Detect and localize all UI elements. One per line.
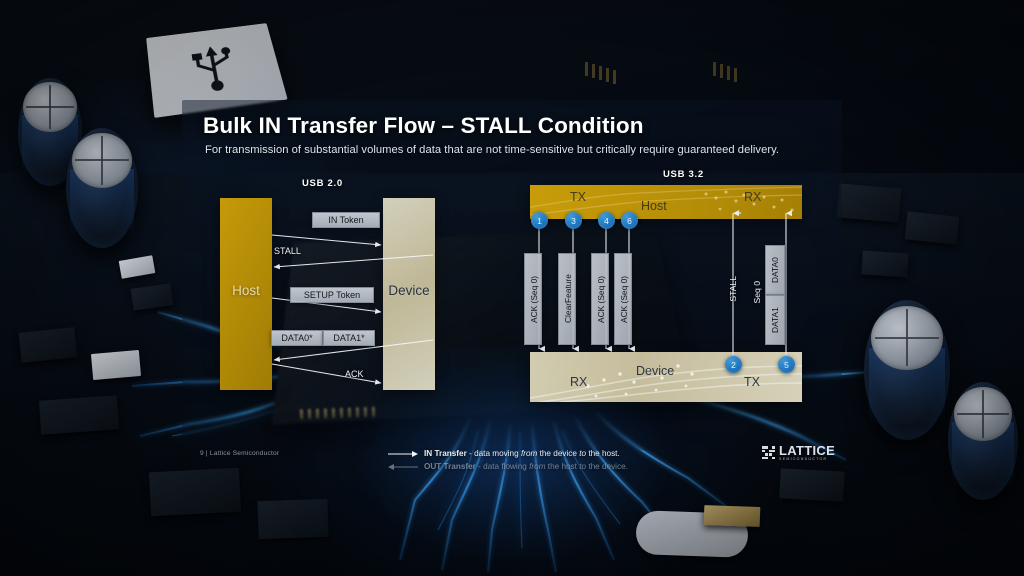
usb3-step-4: 4 — [598, 212, 615, 229]
usb2-packet-data1: DATA1* — [323, 330, 375, 346]
legend-b: the device — [537, 449, 579, 458]
usb3-label-text: ClearFeature — [559, 254, 577, 344]
usb3-step-3: 3 — [565, 212, 582, 229]
usb2-host-label: Host — [220, 283, 272, 298]
usb3-label-ack-seq0-1: ACK (Seq 0) — [524, 253, 542, 345]
usb3-label-text: ACK (Seq 0) — [525, 254, 543, 344]
lattice-sub: SEMICONDUCTOR — [779, 458, 835, 462]
legend-c: the host. — [586, 449, 620, 458]
usb2-packet-in-token: IN Token — [312, 212, 380, 228]
usb3-device-label: Device — [636, 364, 674, 378]
usb3-caption: USB 3.2 — [663, 169, 704, 180]
legend-a: data flowing — [483, 462, 529, 471]
usb2-caption: USB 2.0 — [302, 178, 343, 189]
page-subtitle: For transmission of substantial volumes … — [205, 144, 779, 156]
legend-row-out: OUT Transfer - data flowing from the hos… — [388, 461, 628, 472]
usb3-device-rx-label: RX — [570, 375, 587, 389]
legend-b: the host — [546, 462, 580, 471]
slide-footer: 9 | Lattice Semiconductor — [200, 450, 279, 457]
usb3-label-ack-seq0-3: ACK (Seq 0) — [614, 253, 632, 345]
legend-in-name: IN Transfer — [424, 449, 467, 458]
legend-sep: - — [467, 449, 474, 458]
legend: IN Transfer - data moving from the devic… — [388, 448, 628, 474]
slide-content: Bulk IN Transfer Flow – STALL Condition … — [0, 0, 1024, 576]
usb2-packet-data0: DATA0* — [271, 330, 323, 346]
usb3-label-ack-seq0-2: ACK (Seq 0) — [591, 253, 609, 345]
legend-arrow-out-icon — [388, 463, 418, 471]
usb3-label-data0: DATA0 — [765, 245, 785, 295]
usb3-label-text: DATA0 — [766, 246, 784, 294]
legend-c: the device. — [586, 462, 628, 471]
usb3-step-2: 2 — [725, 356, 742, 373]
usb3-host-rx-label: RX — [744, 190, 761, 204]
usb3-label-seq0: Seq 0 — [752, 281, 762, 303]
page-title: Bulk IN Transfer Flow – STALL Condition — [203, 113, 644, 139]
legend-row-in: IN Transfer - data moving from the devic… — [388, 448, 628, 459]
usb3-step-5: 5 — [778, 356, 795, 373]
usb3-label-stall: STALL — [728, 276, 738, 302]
usb3-device-tx-label: TX — [744, 375, 760, 389]
usb3-host-label: Host — [641, 199, 667, 213]
usb3-label-text: ACK (Seq 0) — [615, 254, 633, 344]
legend-in-text: IN Transfer - data moving from the devic… — [424, 449, 620, 458]
lattice-logo: LATTICE SEMICONDUCTOR — [762, 444, 835, 462]
lattice-name: LATTICE — [779, 444, 835, 457]
legend-em1: from — [529, 462, 545, 471]
usb3-step-1: 1 — [531, 212, 548, 229]
lattice-wordmark: LATTICE SEMICONDUCTOR — [779, 444, 835, 462]
usb2-packet-setup-token: SETUP Token — [290, 287, 374, 303]
legend-em1: from — [521, 449, 537, 458]
legend-arrow-in-icon — [388, 450, 418, 458]
usb2-packet-ack: ACK — [345, 369, 364, 379]
usb2-packet-stall: STALL — [274, 246, 301, 256]
legend-a: data moving — [474, 449, 521, 458]
legend-out-name: OUT Transfer — [424, 462, 476, 471]
usb3-label-text: ACK (Seq 0) — [592, 254, 610, 344]
usb3-label-clearfeature: ClearFeature — [558, 253, 576, 345]
usb3-host-tx-label: TX — [570, 190, 586, 204]
lattice-mark-icon — [762, 446, 775, 459]
usb2-device-label: Device — [376, 283, 442, 298]
usb3-label-data1: DATA1 — [765, 295, 785, 345]
legend-out-text: OUT Transfer - data flowing from the hos… — [424, 462, 628, 471]
usb3-label-text: DATA1 — [766, 296, 784, 344]
usb3-step-6: 6 — [621, 212, 638, 229]
